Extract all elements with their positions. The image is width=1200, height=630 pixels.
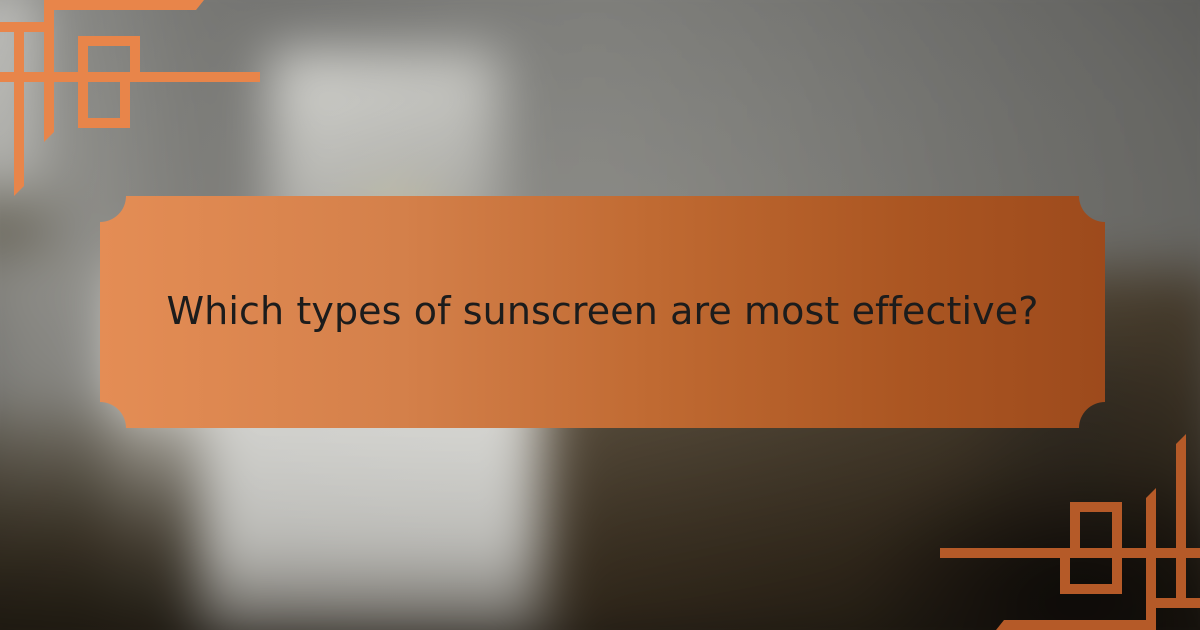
question-text: Which types of sunscreen are most effect… [121,288,1085,336]
question-card: Which types of sunscreen are most effect… [0,0,1200,630]
question-banner: Which types of sunscreen are most effect… [100,196,1105,428]
